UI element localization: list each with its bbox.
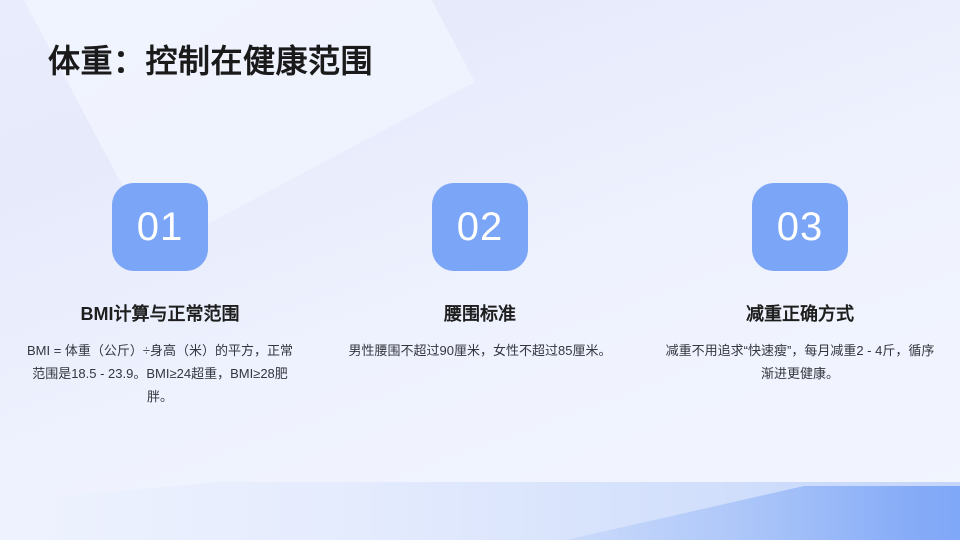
card-description: 男性腰围不超过90厘米，女性不超过85厘米。 — [349, 340, 612, 363]
card-number-badge: 01 — [112, 183, 208, 271]
slide-root: 体重：控制在健康范围 01 BMI计算与正常范围 BMI = 体重（公斤）÷身高… — [0, 0, 960, 540]
card-item: 02 腰围标准 男性腰围不超过90厘米，女性不超过85厘米。 — [320, 183, 640, 409]
card-number-badge: 02 — [432, 183, 528, 271]
cards-row: 01 BMI计算与正常范围 BMI = 体重（公斤）÷身高（米）的平方，正常范围… — [0, 183, 960, 409]
decorative-band-front — [300, 486, 960, 540]
card-title: BMI计算与正常范围 — [81, 303, 240, 326]
card-item: 03 减重正确方式 减重不用追求“快速瘦”，每月减重2 - 4斤，循序渐进更健康… — [640, 183, 960, 409]
card-title: 腰围标准 — [444, 303, 516, 326]
card-item: 01 BMI计算与正常范围 BMI = 体重（公斤）÷身高（米）的平方，正常范围… — [0, 183, 320, 409]
page-title: 体重：控制在健康范围 — [48, 42, 373, 80]
card-number-badge: 03 — [752, 183, 848, 271]
card-description: 减重不用追求“快速瘦”，每月减重2 - 4斤，循序渐进更健康。 — [665, 340, 935, 386]
card-description: BMI = 体重（公斤）÷身高（米）的平方，正常范围是18.5 - 23.9。B… — [25, 340, 295, 408]
decorative-band-back — [0, 482, 960, 540]
card-title: 减重正确方式 — [746, 303, 854, 326]
